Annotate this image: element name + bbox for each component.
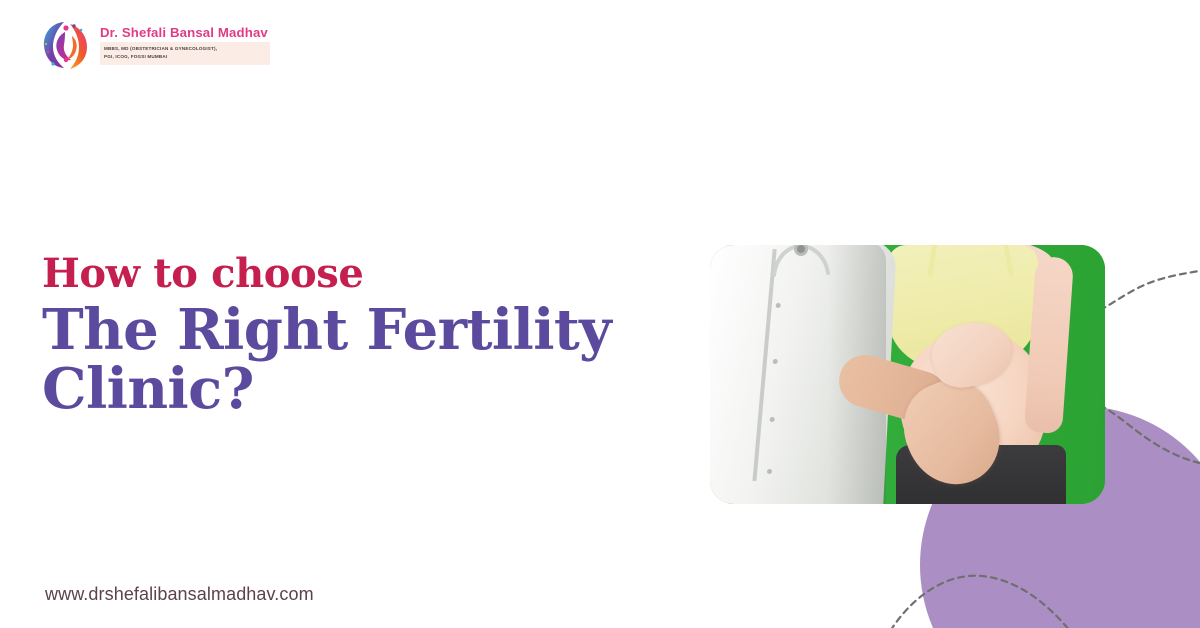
headline-title-line-1: The Right Fertility — [42, 297, 611, 363]
mother-and-child-logo-icon — [40, 18, 92, 72]
coat-button — [776, 303, 781, 308]
hero-photo — [710, 245, 1105, 504]
headline-title: The Right Fertility Clinic? — [42, 301, 611, 419]
coat-button — [767, 469, 772, 474]
brand-credentials: MBBS, MD (OBSTETRICIAN & GYNECOLOGIST), … — [100, 42, 270, 65]
brand-text-group: Dr. Shefali Bansal Madhav MBBS, MD (OBST… — [100, 25, 270, 65]
headline-title-line-2: Clinic? — [42, 360, 611, 419]
top-strap-right — [1003, 245, 1015, 277]
brand-logo-block[interactable]: Dr. Shefali Bansal Madhav MBBS, MD (OBST… — [40, 18, 270, 72]
brand-name: Dr. Shefali Bansal Madhav — [100, 25, 270, 40]
coat-button — [770, 417, 775, 422]
promo-banner: Dr. Shefali Bansal Madhav MBBS, MD (OBST… — [0, 0, 1200, 628]
stethoscope-icon — [768, 245, 842, 277]
coat-lapel — [752, 249, 776, 481]
headline-eyebrow: How to choose — [42, 252, 611, 295]
credential-line-2: PGI, ICOG, FOGSI MUMBAI — [104, 53, 264, 61]
coat-button — [773, 359, 778, 364]
dashed-squiggle-bottom-icon — [878, 562, 1088, 628]
hero-photo-inner — [710, 245, 1105, 504]
website-url[interactable]: www.drshefalibansalmadhav.com — [45, 584, 314, 605]
top-strap-left — [927, 245, 938, 277]
credential-line-1: MBBS, MD (OBSTETRICIAN & GYNECOLOGIST), — [104, 45, 264, 53]
headline-block: How to choose The Right Fertility Clinic… — [42, 252, 611, 419]
